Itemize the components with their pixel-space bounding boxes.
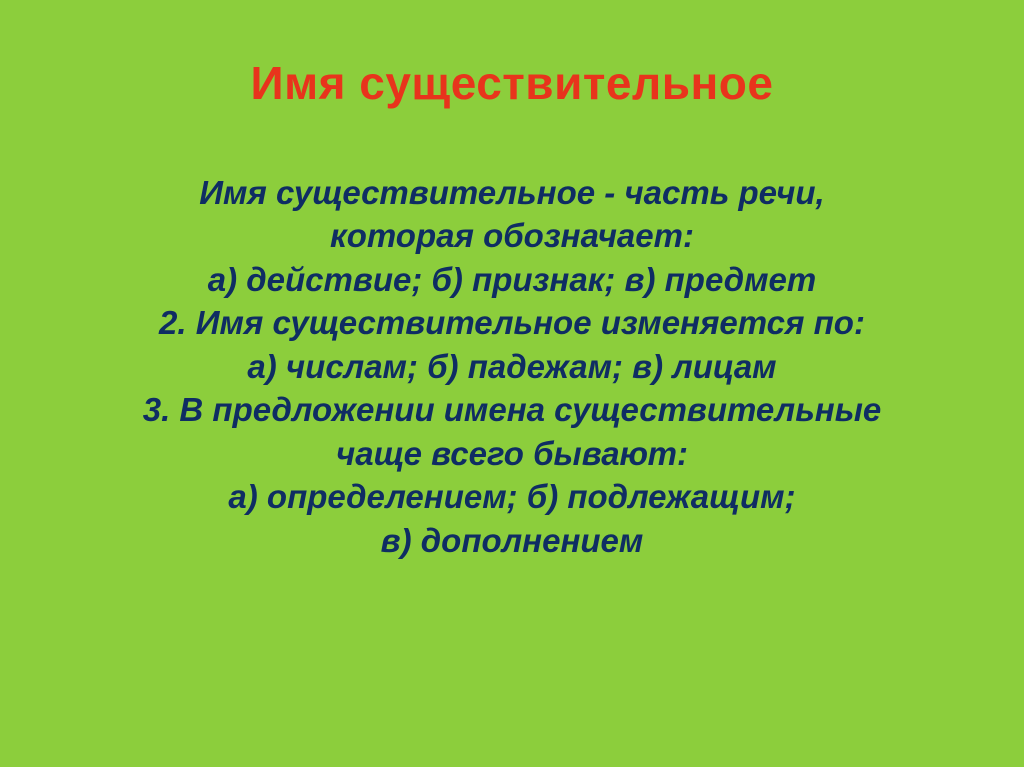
body-line: чаще всего бывают:	[32, 432, 992, 476]
body-line: 2. Имя существительное изменяется по:	[32, 301, 992, 345]
slide: Имя существительное Имя существительное …	[0, 0, 1024, 767]
body-line: Имя существительное - часть речи,	[32, 171, 992, 215]
slide-body: Имя существительное - часть речи, котора…	[32, 171, 992, 563]
body-line: которая обозначает:	[32, 214, 992, 258]
body-line: в) дополнением	[32, 519, 992, 563]
page-title: Имя существительное	[251, 58, 774, 109]
body-line: а) действие; б) признак; в) предмет	[32, 258, 992, 302]
body-line: а) определением; б) подлежащим;	[32, 475, 992, 519]
body-line: 3. В предложении имена существительные	[32, 388, 992, 432]
body-line: а) числам; б) падежам; в) лицам	[32, 345, 992, 389]
